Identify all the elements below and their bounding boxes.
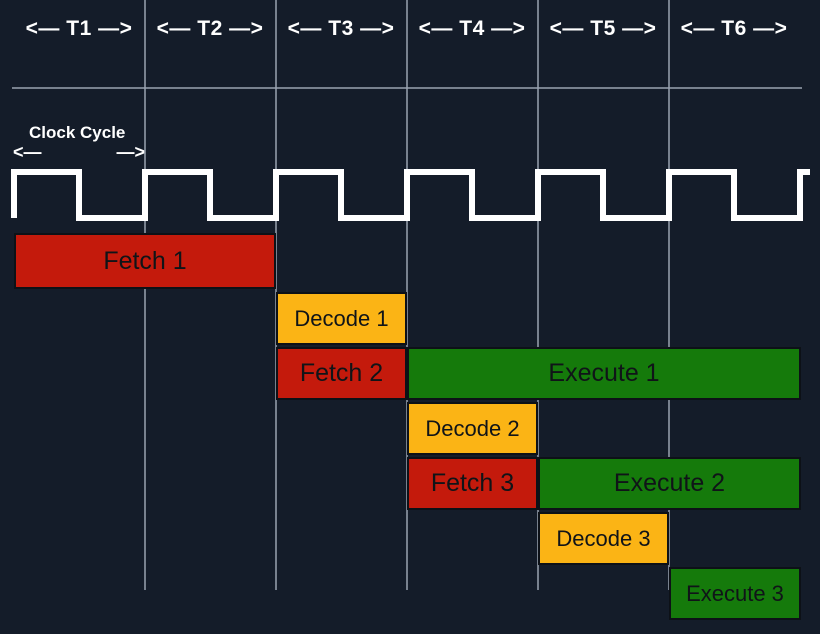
pipeline-timing-diagram: <— T1 —> <— T2 —> <— T3 —> <— T4 —> <— T… [0, 0, 820, 634]
stage-label: Execute 2 [614, 469, 725, 498]
stage-label: Execute 1 [548, 359, 659, 388]
stage-label: Execute 3 [686, 581, 784, 607]
stage-block-fetch-3[interactable]: Fetch 3 [407, 457, 538, 510]
stage-block-decode-1[interactable]: Decode 1 [276, 292, 407, 345]
stage-block-fetch-2[interactable]: Fetch 2 [276, 347, 407, 400]
stage-label: Fetch 1 [103, 247, 186, 276]
stage-label: Fetch 3 [431, 469, 514, 498]
stage-label: Decode 1 [294, 306, 388, 332]
stage-label: Decode 2 [425, 416, 519, 442]
stage-block-execute-2[interactable]: Execute 2 [538, 457, 801, 510]
stage-block-decode-3[interactable]: Decode 3 [538, 512, 669, 565]
stage-block-execute-3[interactable]: Execute 3 [669, 567, 801, 620]
clock-waveform [0, 0, 820, 634]
stage-block-execute-1[interactable]: Execute 1 [407, 347, 801, 400]
stage-label: Decode 3 [556, 526, 650, 552]
stage-block-fetch-1[interactable]: Fetch 1 [14, 233, 276, 289]
stage-label: Fetch 2 [300, 359, 383, 388]
stage-block-decode-2[interactable]: Decode 2 [407, 402, 538, 455]
